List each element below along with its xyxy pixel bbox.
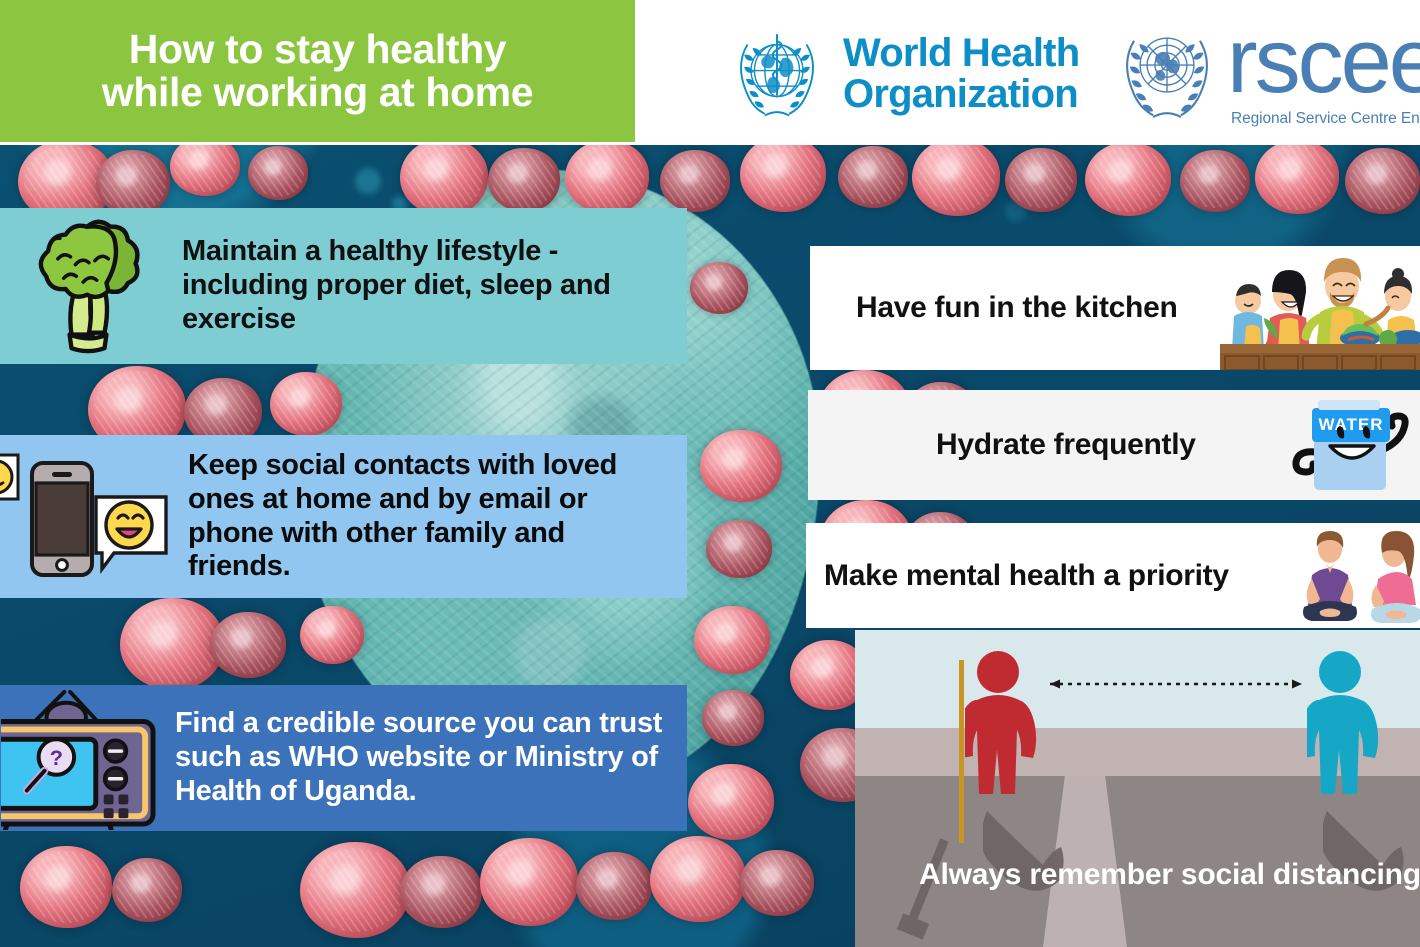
double-headed-dotted-arrow-icon	[1040, 678, 1312, 690]
card-social-text: Keep social contacts with loved ones at …	[180, 449, 687, 585]
smartphone-body-icon	[32, 463, 92, 575]
card-keep-social-contacts: Keep social contacts with loved ones at …	[0, 435, 687, 598]
rsce-tagline: Regional Service Centre Entebbe	[1231, 110, 1420, 128]
card-source-text: Find a credible source you can trust suc…	[165, 707, 687, 809]
card-make-mental-health-a-priority: Make mental health a priority	[806, 523, 1420, 628]
rsce-logo: rscee Regional Service Centre Entebbe	[1113, 20, 1420, 128]
panel-social-distancing: Always remember social distancing	[855, 630, 1420, 947]
card-have-fun-in-the-kitchen: Have fun in the kitchen	[810, 246, 1420, 370]
card-hydrate-frequently: Hydrate frequently WATER	[808, 390, 1420, 500]
water-bottle-character-illustration: WATER	[1260, 390, 1420, 500]
card-hydrate-text: Hydrate frequently	[936, 428, 1196, 462]
card-maintain-healthy-lifestyle: Maintain a healthy lifestyle - including…	[0, 208, 687, 364]
broccoli-icon	[0, 208, 176, 364]
meditating-people-illustration	[1290, 523, 1420, 628]
who-logo: World Health Organization	[725, 22, 1079, 126]
page-title-line1: How to stay healthy	[129, 28, 506, 71]
rsce-wordmark: rscee Regional Service Centre Entebbe	[1227, 22, 1420, 128]
who-name-line1: World Health	[843, 33, 1079, 74]
speech-bubble-left-icon	[0, 455, 18, 511]
social-distancing-caption: Always remember social distancing	[855, 858, 1420, 892]
who-wordmark: World Health Organization	[843, 33, 1079, 115]
header-bar: How to stay healthy while working at hom…	[0, 0, 1420, 145]
card-lifestyle-text: Maintain a healthy lifestyle - including…	[176, 235, 687, 337]
rsce-wordmark-text: rscee	[1227, 22, 1420, 101]
family-cooking-illustration	[1220, 246, 1420, 370]
street-pole-icon	[959, 660, 964, 843]
un-emblem-icon	[1113, 20, 1221, 124]
who-emblem-icon	[725, 22, 829, 126]
infographic-page: How to stay healthy while working at hom…	[0, 0, 1420, 947]
who-name-line2: Organization	[843, 74, 1079, 115]
speech-bubble-right-icon	[96, 497, 166, 569]
card-kitchen-text: Have fun in the kitchen	[856, 291, 1178, 325]
svg-text:WATER: WATER	[1318, 415, 1383, 434]
page-title-line2: while working at home	[102, 71, 533, 114]
svg-text:?: ?	[50, 745, 63, 770]
television-search-icon: ?	[0, 685, 165, 831]
smartphone-chat-icon	[0, 435, 180, 598]
page-title: How to stay healthy while working at hom…	[0, 0, 635, 142]
card-find-credible-source: ? Find a credible source you can trust s…	[0, 685, 687, 831]
card-mental-text: Make mental health a priority	[824, 559, 1229, 593]
